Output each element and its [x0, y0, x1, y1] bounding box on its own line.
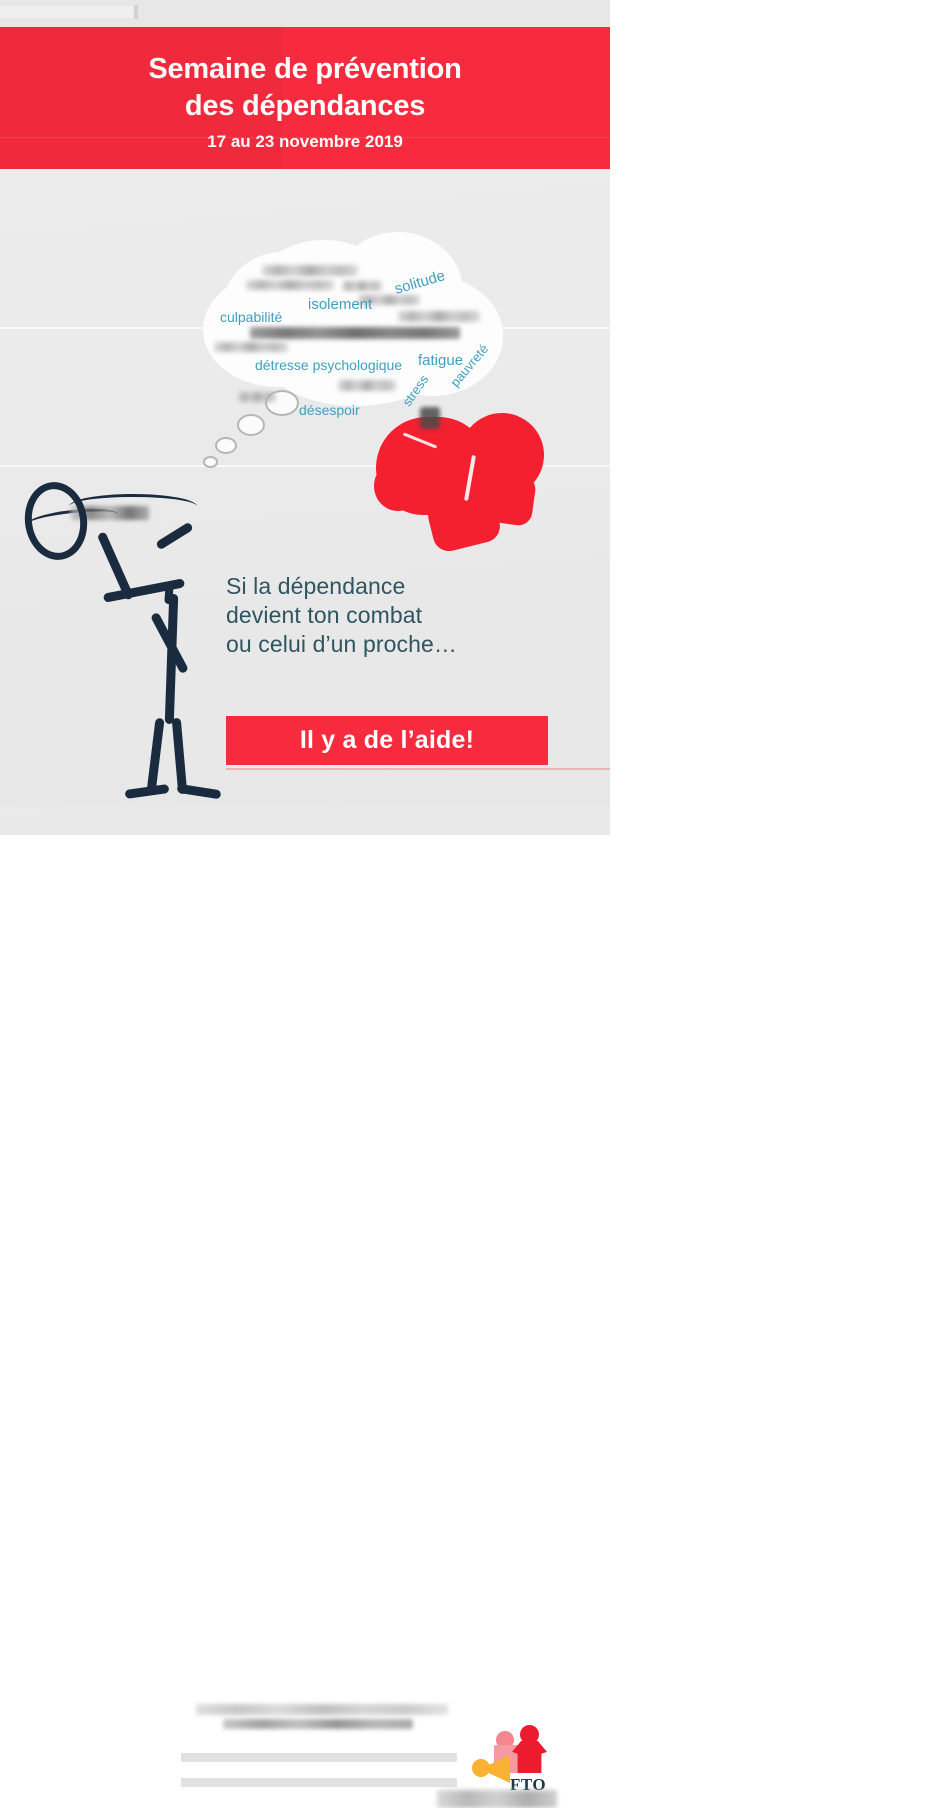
redacted-word	[342, 281, 382, 291]
banner-left-shade	[0, 27, 283, 169]
cloud-word-detresse-psychologique: détresse psychologique	[255, 357, 402, 373]
figure-head	[20, 478, 92, 564]
cta-label: Il y a de l’aide!	[300, 726, 474, 755]
redacted-footer-subheading	[223, 1719, 413, 1729]
window-top-strip	[0, 0, 610, 27]
redacted-footer-line	[181, 1778, 457, 1787]
figure-leg-left	[146, 718, 164, 795]
redacted-word	[262, 265, 358, 276]
redacted-word	[250, 327, 460, 339]
glove-front-thumb	[374, 461, 422, 511]
poster-hairline	[226, 768, 610, 770]
poster-bottom-fade	[0, 807, 610, 835]
cloud-word-isolement: isolement	[308, 296, 372, 313]
top-strip-tick-marker	[134, 5, 138, 19]
redacted-word	[214, 342, 288, 352]
poster-banner: Semaine de prévention des dépendances 17…	[0, 27, 610, 169]
headline-line-1: Si la dépendance	[226, 572, 556, 601]
cloud-word-desespoir: désespoir	[299, 402, 360, 418]
thought-bubble-dot	[203, 456, 218, 468]
thought-bubble-dot	[237, 414, 265, 436]
redacted-footer-heading	[196, 1704, 448, 1715]
page-footer: FTO	[0, 835, 945, 985]
figure-foot-right	[177, 784, 222, 800]
redacted-word	[398, 311, 480, 322]
top-strip-highlight	[0, 6, 134, 18]
banner-seam-line	[0, 137, 610, 138]
poster-headline: Si la dépendance devient ton combat ou c…	[226, 572, 556, 659]
figure-leg-right	[172, 718, 188, 794]
redacted-logo-caption	[437, 1790, 557, 1808]
headline-line-3: ou celui d’un proche…	[226, 630, 556, 659]
redacted-word	[338, 380, 396, 391]
redacted-footer-line	[181, 1753, 457, 1762]
thinking-stick-figure	[25, 482, 225, 782]
cloud-word-fatigue: fatigue	[418, 352, 463, 369]
fto-logo[interactable]: FTO	[470, 1725, 550, 1797]
prevention-poster: Semaine de prévention des dépendances 17…	[0, 27, 610, 835]
boxing-gloves-icon	[368, 395, 538, 575]
figure-hand-to-head	[155, 522, 194, 551]
help-available-banner[interactable]: Il y a de l’aide!	[226, 716, 548, 765]
redacted-word	[246, 280, 334, 290]
glove-notch-smudge	[420, 407, 440, 429]
redacted-word	[238, 392, 276, 402]
thought-bubble-dot	[215, 437, 237, 454]
headline-line-2: devient ton combat	[226, 601, 556, 630]
cloud-word-culpabilite: culpabilité	[220, 309, 282, 325]
figure-foot-left	[125, 784, 170, 799]
